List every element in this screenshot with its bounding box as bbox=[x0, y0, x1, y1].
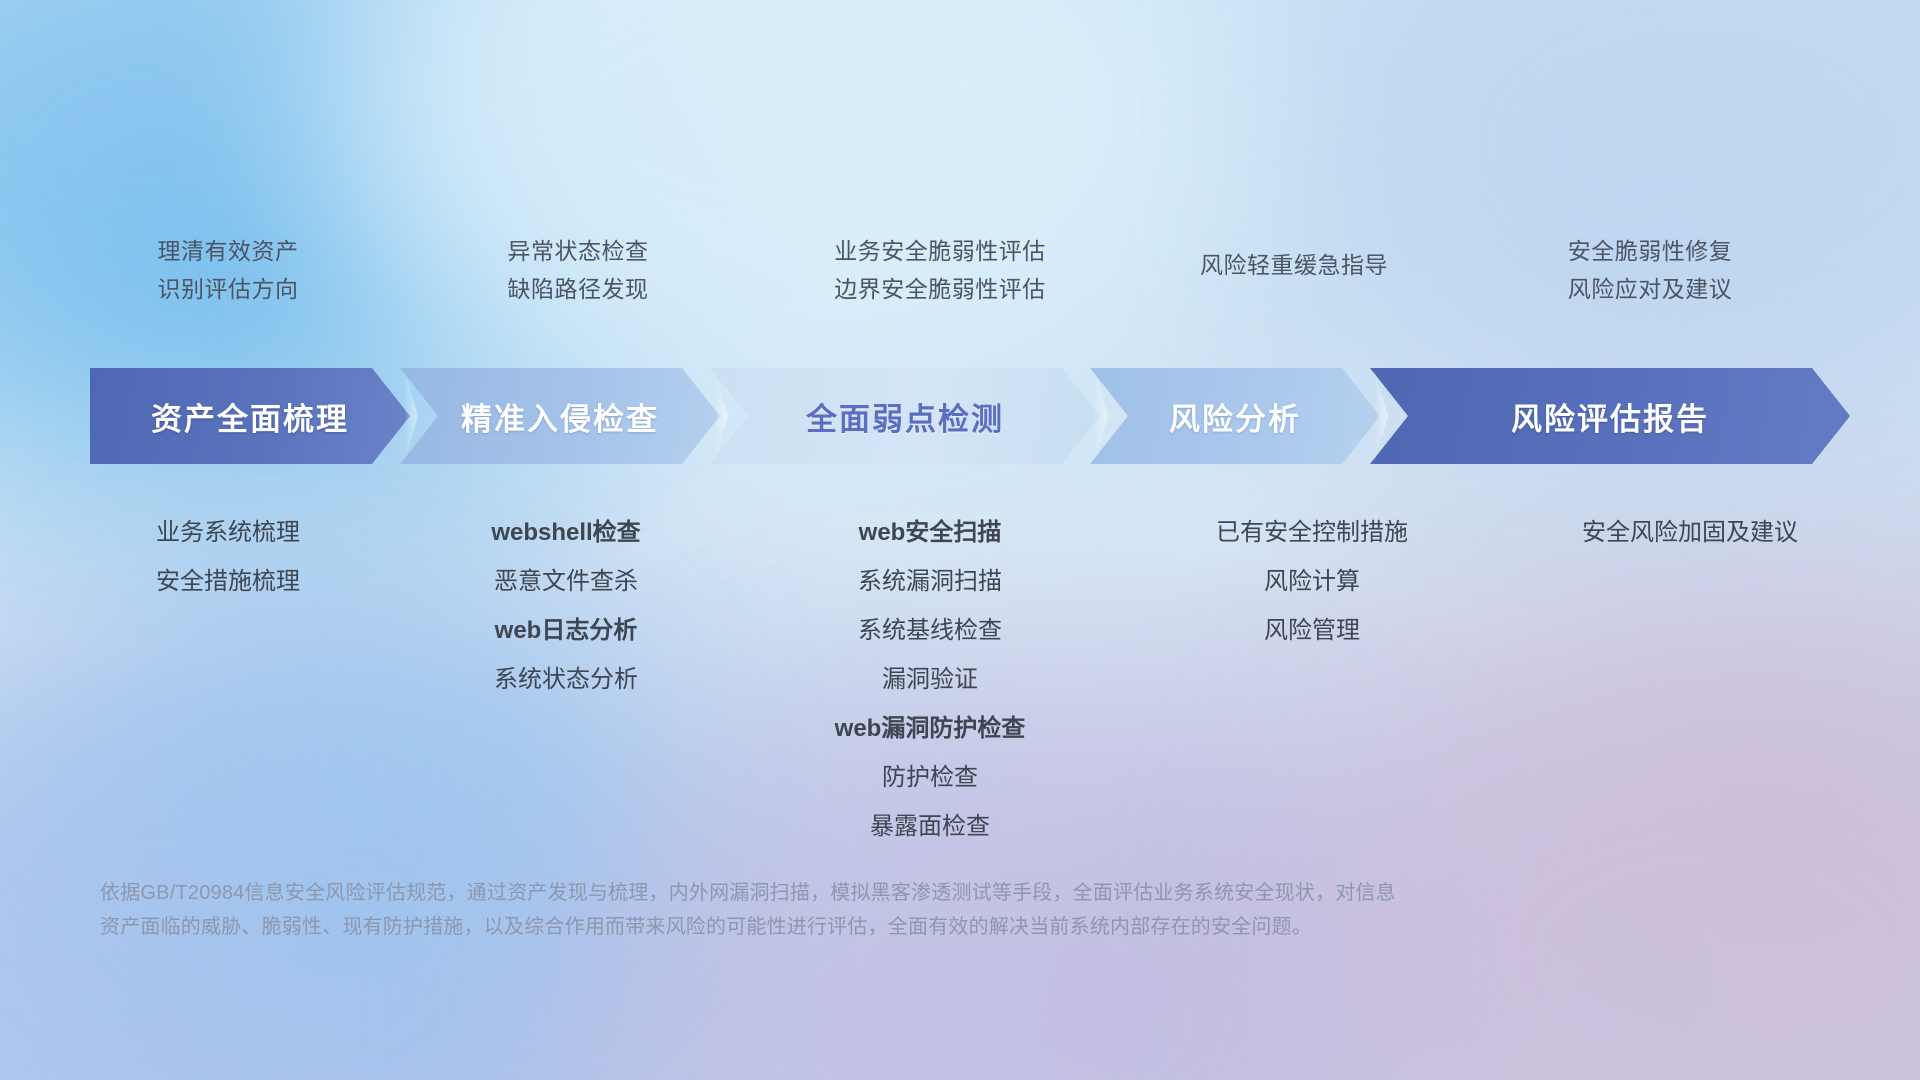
process-stage-3-chevron[interactable]: 全面弱点检测 bbox=[710, 368, 1100, 464]
top-caption-item: 业务安全脆弱性评估 bbox=[740, 232, 1140, 270]
top-caption-item: 识别评估方向 bbox=[58, 270, 398, 308]
top-caption-item: 理清有效资产 bbox=[58, 232, 398, 270]
footer-line-1: 依据GB/T20984信息安全风险评估规范，通过资产发现与梳理，内外网漏洞扫描，… bbox=[100, 876, 1620, 910]
list-item: 系统基线检查 bbox=[730, 606, 1130, 655]
list-item: 风险管理 bbox=[1122, 606, 1502, 655]
list-item: 安全风险加固及建议 bbox=[1500, 508, 1880, 557]
top-captions-stage-5: 安全脆弱性修复 风险应对及建议 bbox=[1470, 232, 1830, 308]
top-caption-item: 安全脆弱性修复 bbox=[1470, 232, 1830, 270]
top-caption-item: 风险应对及建议 bbox=[1470, 270, 1830, 308]
top-captions-row: 理清有效资产 识别评估方向 异常状态检查 缺陷路径发现 业务安全脆弱性评估 边界… bbox=[0, 232, 1920, 332]
list-item: web安全扫描 bbox=[730, 508, 1130, 557]
process-stage-2-label: 精准入侵检查 bbox=[461, 394, 659, 439]
list-item: 业务系统梳理 bbox=[58, 508, 398, 557]
top-caption-item: 风险轻重缓急指导 bbox=[1114, 246, 1474, 284]
list-item: 恶意文件查杀 bbox=[396, 557, 736, 606]
slide-canvas: 理清有效资产 识别评估方向 异常状态检查 缺陷路径发现 业务安全脆弱性评估 边界… bbox=[0, 0, 1920, 1080]
bottom-list-stage-4: 已有安全控制措施 风险计算 风险管理 bbox=[1122, 508, 1502, 655]
list-item: 已有安全控制措施 bbox=[1122, 508, 1502, 557]
bottom-list-stage-3: web安全扫描 系统漏洞扫描 系统基线检查 漏洞验证 web漏洞防护检查 防护检… bbox=[730, 508, 1130, 851]
process-stage-2-chevron[interactable]: 精准入侵检查 bbox=[400, 368, 720, 464]
process-stage-5-label: 风险评估报告 bbox=[1511, 394, 1709, 439]
process-chevron-band: 资产全面梳理 精准入侵检查 全面弱点检测 风险分析 风险评估报告 bbox=[0, 368, 1920, 464]
top-captions-stage-4: 风险轻重缓急指导 bbox=[1114, 246, 1474, 284]
footer-description: 依据GB/T20984信息安全风险评估规范，通过资产发现与梳理，内外网漏洞扫描，… bbox=[100, 876, 1620, 944]
list-item: 系统状态分析 bbox=[396, 655, 736, 704]
process-stage-1-label: 资产全面梳理 bbox=[151, 394, 349, 439]
list-item: 系统漏洞扫描 bbox=[730, 557, 1130, 606]
top-caption-item: 异常状态检查 bbox=[408, 232, 748, 270]
list-item: 防护检查 bbox=[730, 753, 1130, 802]
process-stage-5-chevron[interactable]: 风险评估报告 bbox=[1370, 368, 1850, 464]
footer-line-2: 资产面临的威胁、脆弱性、现有防护措施，以及综合作用而带来风险的可能性进行评估，全… bbox=[100, 910, 1620, 944]
bottom-list-stage-2: webshell检查 恶意文件查杀 web日志分析 系统状态分析 bbox=[396, 508, 736, 704]
process-stage-4-label: 风险分析 bbox=[1169, 394, 1301, 439]
process-stage-3-label: 全面弱点检测 bbox=[806, 394, 1004, 439]
bottom-list-stage-5: 安全风险加固及建议 bbox=[1500, 508, 1880, 557]
bottom-list-stage-1: 业务系统梳理 安全措施梳理 bbox=[58, 508, 398, 606]
list-item: 漏洞验证 bbox=[730, 655, 1130, 704]
top-captions-stage-3: 业务安全脆弱性评估 边界安全脆弱性评估 bbox=[740, 232, 1140, 308]
list-item: web日志分析 bbox=[396, 606, 736, 655]
top-caption-item: 边界安全脆弱性评估 bbox=[740, 270, 1140, 308]
list-item: 风险计算 bbox=[1122, 557, 1502, 606]
top-caption-item: 缺陷路径发现 bbox=[408, 270, 748, 308]
list-item: 安全措施梳理 bbox=[58, 557, 398, 606]
list-item: web漏洞防护检查 bbox=[730, 704, 1130, 753]
process-stage-4-chevron[interactable]: 风险分析 bbox=[1090, 368, 1380, 464]
top-captions-stage-1: 理清有效资产 识别评估方向 bbox=[58, 232, 398, 308]
list-item: 暴露面检查 bbox=[730, 802, 1130, 851]
top-captions-stage-2: 异常状态检查 缺陷路径发现 bbox=[408, 232, 748, 308]
list-item: webshell检查 bbox=[396, 508, 736, 557]
process-stage-1-chevron[interactable]: 资产全面梳理 bbox=[90, 368, 410, 464]
